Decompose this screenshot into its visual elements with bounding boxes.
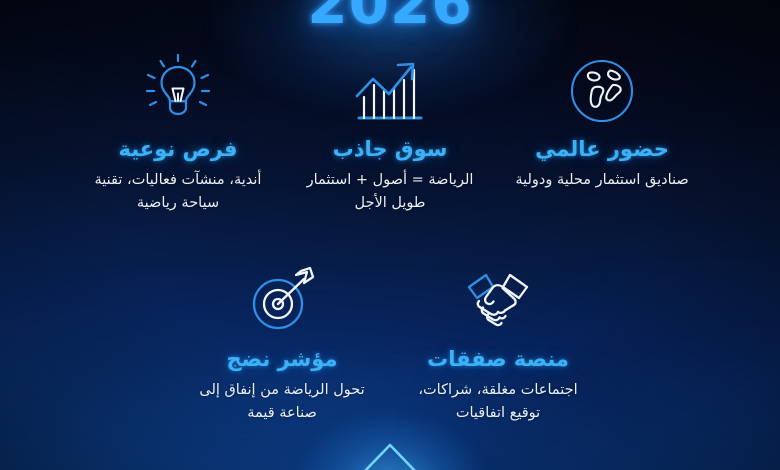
card-body: اجتماعات مغلقة، شراكات، توقيع اتفاقيات <box>403 379 593 424</box>
card-title: فرص نوعية <box>118 136 237 162</box>
cards-row-top: حضور عالمي صناديق استثمار محلية ودولية س… <box>0 52 780 214</box>
handshake-icon <box>455 262 541 340</box>
cards-row-bottom: منصة صفقات اجتماعات مغلقة، شراكات، توقيع… <box>0 262 780 424</box>
year-headline-container: 2026 <box>0 0 780 32</box>
lightbulb-icon <box>135 52 221 130</box>
card-maturity-index[interactable]: مؤشر نضج تحول الرياضة من إنفاق إلى صناعة… <box>174 262 390 424</box>
target-arrow-icon <box>239 262 325 340</box>
card-deals-platform[interactable]: منصة صفقات اجتماعات مغلقة، شراكات، توقيع… <box>390 262 606 424</box>
infographic-canvas: 2026 حضور عالمي صناديق استثمار محلية ودو… <box>0 0 780 470</box>
year-headline: 2026 <box>307 0 472 32</box>
card-attractive-market[interactable]: سوق جاذب الرياضة = أصول + استثمار طويل ا… <box>284 52 496 214</box>
card-body: صناديق استثمار محلية ودولية <box>515 169 688 191</box>
card-title: منصة صفقات <box>427 346 569 372</box>
chevron-up-icon <box>358 442 422 470</box>
card-body: الرياضة = أصول + استثمار طويل الأجل <box>295 169 485 214</box>
card-title: مؤشر نضج <box>227 346 338 372</box>
card-title: حضور عالمي <box>535 136 669 162</box>
card-quality-opportunities[interactable]: فرص نوعية أندية، منشآت فعاليات، تقنية سي… <box>72 52 284 214</box>
globe-icon <box>559 52 645 130</box>
card-global-presence[interactable]: حضور عالمي صناديق استثمار محلية ودولية <box>496 52 708 214</box>
card-body: تحول الرياضة من إنفاق إلى صناعة قيمة <box>187 379 377 424</box>
card-body: أندية، منشآت فعاليات، تقنية سياحة رياضية <box>83 169 273 214</box>
growth-chart-icon <box>347 52 433 130</box>
card-title: سوق جاذب <box>333 136 448 162</box>
